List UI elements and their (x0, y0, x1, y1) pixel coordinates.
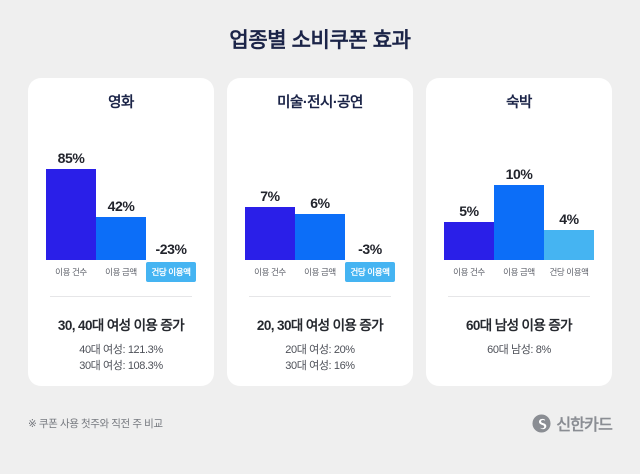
category-label: 이용 금액 (295, 262, 345, 282)
bar-column: -3% (345, 114, 395, 260)
bar-column: 10% (494, 114, 544, 260)
card-summary: 30, 40대 여성 이용 증가40대 여성: 121.3%30대 여성: 10… (40, 297, 202, 374)
category-label: 이용 금액 (96, 262, 146, 282)
category-label: 이용 건수 (46, 262, 96, 282)
summary-detail: 40대 여성: 121.3% (40, 342, 202, 358)
category-label-strip: 이용 건수이용 금액건당 이용액 (46, 262, 196, 282)
summary-detail: 20대 여성: 20% (239, 342, 401, 358)
bar-value-label: -3% (345, 241, 395, 257)
page-title: 업종별 소비쿠폰 효과 (0, 0, 640, 54)
summary-headline: 60대 남성 이용 증가 (438, 314, 600, 334)
bar-chart: 7%6%-3%이용 건수이용 금액건당 이용액 (245, 114, 395, 282)
category-card: 숙박5%10%4%이용 건수이용 금액건당 이용액60대 남성 이용 증가60대… (426, 78, 612, 386)
bar-value-label: 85% (46, 150, 96, 166)
card-summary: 20, 30대 여성 이용 증가20대 여성: 20%30대 여성: 16% (239, 297, 401, 374)
bar-value-label: 5% (444, 203, 494, 219)
category-label-strip: 이용 건수이용 금액건당 이용액 (245, 262, 395, 282)
bar-rect (494, 185, 544, 260)
brand-name: 신한카드 (556, 411, 612, 435)
page-footer: ※ 쿠폰 사용 첫주와 직전 주 비교 신한카드 (28, 410, 612, 436)
brand-logo: 신한카드 (532, 411, 612, 435)
category-label: 이용 건수 (245, 262, 295, 282)
bar-chart: 85%42%-23%이용 건수이용 금액건당 이용액 (46, 114, 196, 282)
bar-group: 5%10%4% (444, 114, 594, 260)
bar-column: 6% (295, 114, 345, 260)
card-title: 미술·전시·공연 (239, 92, 401, 114)
bar-column: 5% (444, 114, 494, 260)
bar-rect (245, 207, 295, 260)
category-cards-row: 영화85%42%-23%이용 건수이용 금액건당 이용액30, 40대 여성 이… (0, 78, 640, 386)
category-card: 영화85%42%-23%이용 건수이용 금액건당 이용액30, 40대 여성 이… (28, 78, 214, 386)
bar-rect (96, 217, 146, 260)
bar-column: 42% (96, 114, 146, 260)
bar-value-label: 7% (245, 188, 295, 204)
bar-rect (295, 214, 345, 260)
category-label: 건당 이용액 (544, 262, 594, 282)
footnote-text: ※ 쿠폰 사용 첫주와 직전 주 비교 (28, 416, 163, 431)
bar-group: 7%6%-3% (245, 114, 395, 260)
summary-headline: 20, 30대 여성 이용 증가 (239, 314, 401, 334)
summary-detail: 30대 여성: 108.3% (40, 358, 202, 374)
bar-chart: 5%10%4%이용 건수이용 금액건당 이용액 (444, 114, 594, 282)
shinhan-circle-s-icon (532, 414, 551, 433)
bar-value-label: 4% (544, 211, 594, 227)
bar-rect (544, 230, 594, 260)
bar-rect (46, 169, 96, 260)
bar-group: 85%42%-23% (46, 114, 196, 260)
summary-headline: 30, 40대 여성 이용 증가 (40, 314, 202, 334)
category-label: 건당 이용액 (345, 262, 395, 282)
bar-value-label: 10% (494, 166, 544, 182)
bar-value-label: 6% (295, 195, 345, 211)
bar-column: 4% (544, 114, 594, 260)
bar-column: 7% (245, 114, 295, 260)
bar-value-label: 42% (96, 198, 146, 214)
bar-rect (444, 222, 494, 260)
card-title: 숙박 (438, 92, 600, 114)
category-label: 이용 금액 (494, 262, 544, 282)
card-summary: 60대 남성 이용 증가60대 남성: 8% (438, 297, 600, 358)
category-card: 미술·전시·공연7%6%-3%이용 건수이용 금액건당 이용액20, 30대 여… (227, 78, 413, 386)
category-label: 건당 이용액 (146, 262, 196, 282)
category-label-strip: 이용 건수이용 금액건당 이용액 (444, 262, 594, 282)
summary-detail: 60대 남성: 8% (438, 342, 600, 358)
bar-value-label: -23% (146, 241, 196, 257)
category-label: 이용 건수 (444, 262, 494, 282)
card-title: 영화 (40, 92, 202, 114)
bar-column: 85% (46, 114, 96, 260)
summary-detail: 30대 여성: 16% (239, 358, 401, 374)
bar-column: -23% (146, 114, 196, 260)
